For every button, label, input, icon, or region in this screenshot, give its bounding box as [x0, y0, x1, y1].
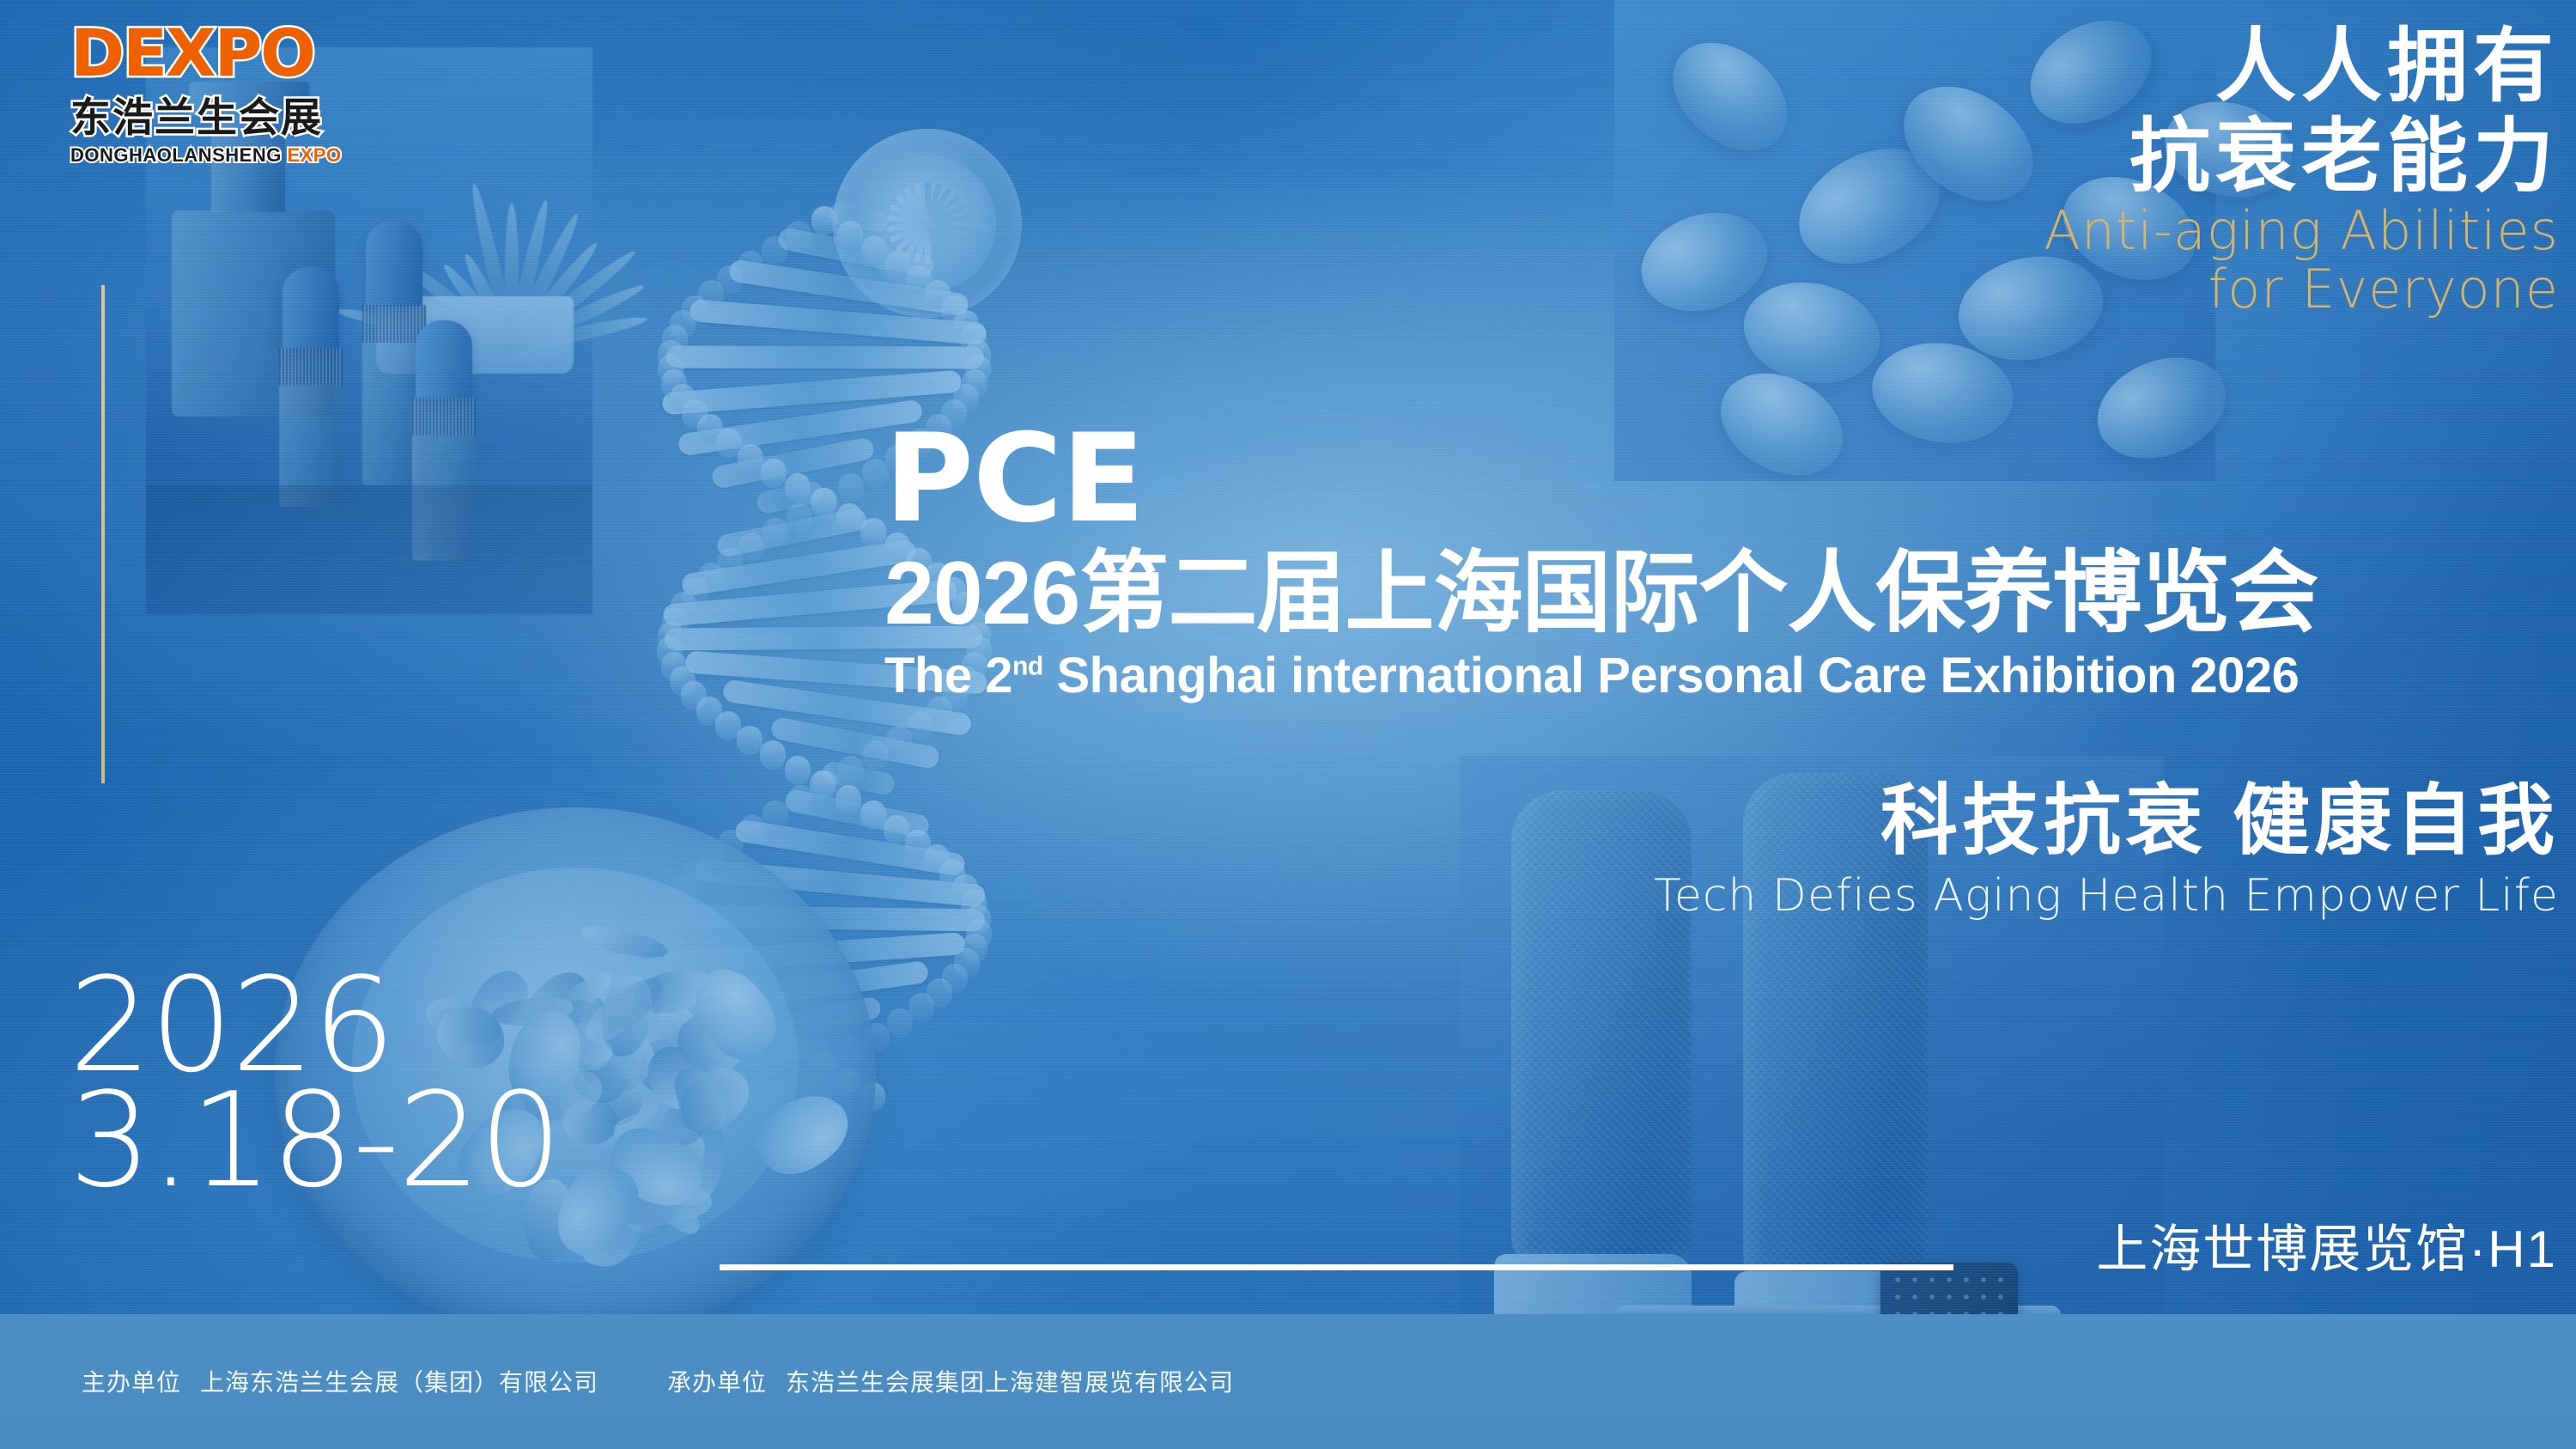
event-title-chinese: 2026第二届上海国际个人保养博览会 [884, 545, 2318, 642]
primary-slogan-cn-line1: 人人拥有 [2044, 21, 2559, 111]
secondary-slogan-en: Tech Defies Aging Health Empower Life [1654, 870, 2559, 922]
logo-chinese-name: 东浩兰生会展 [70, 84, 354, 143]
title-en-ordinal: nd [1012, 653, 1043, 681]
logo-wordmark: DEXPO [70, 24, 354, 82]
event-dates: 2026 3.18-20 [69, 960, 561, 1206]
gold-vertical-divider [101, 285, 105, 783]
organizer-block: 主办单位 上海东浩兰生会展（集团）有限公司 [82, 1364, 598, 1398]
event-title-lockup: PCE 2026第二届上海国际个人保养博览会 The 2nd Shanghai … [884, 418, 2318, 704]
logo-pinyin: DONGHAOLANSHENG EXPO [70, 144, 354, 167]
event-title-english: The 2nd Shanghai international Personal … [884, 647, 2318, 704]
secondary-slogan: 科技抗衰 健康自我 Tech Defies Aging Health Empow… [1654, 777, 2559, 922]
host-value: 东浩兰生会展集团上海建智展览有限公司 [786, 1364, 1234, 1398]
event-date-range: 3.18-20 [69, 1075, 561, 1206]
logo-pinyin-main: DONGHAOLANSHENG [70, 144, 287, 166]
host-label: 承办单位 [667, 1364, 767, 1398]
title-en-suffix: Shanghai international Personal Care Exh… [1043, 648, 2300, 703]
white-horizontal-divider [720, 1264, 1953, 1270]
logo-pinyin-suffix: EXPO [287, 144, 341, 166]
event-acronym: PCE [884, 418, 2318, 540]
organizer-label: 主办单位 [82, 1364, 181, 1398]
primary-slogan-en-line2: for Everyone [2044, 260, 2559, 319]
organizer-value: 上海东浩兰生会展（集团）有限公司 [200, 1364, 598, 1398]
primary-slogan: 人人拥有 抗衰老能力 Anti-aging Abilities for Ever… [2044, 21, 2559, 319]
footer-bar: 主办单位 上海东浩兰生会展（集团）有限公司 承办单位 东浩兰生会展集团上海建智展… [0, 1314, 2576, 1449]
venue-name: 上海世博展览馆·H1 [2096, 1208, 2557, 1282]
title-en-prefix: The 2 [884, 648, 1012, 703]
exhibition-poster: DEXPO 东浩兰生会展 DONGHAOLANSHENG EXPO 2026 3… [0, 0, 2576, 1449]
primary-slogan-cn-line2: 抗衰老能力 [2044, 111, 2559, 201]
secondary-slogan-cn: 科技抗衰 健康自我 [1654, 777, 2559, 867]
primary-slogan-en-line1: Anti-aging Abilities [2044, 202, 2559, 260]
host-block: 承办单位 东浩兰生会展集团上海建智展览有限公司 [667, 1364, 1234, 1398]
dexpo-logo[interactable]: DEXPO 东浩兰生会展 DONGHAOLANSHENG EXPO [70, 24, 354, 167]
